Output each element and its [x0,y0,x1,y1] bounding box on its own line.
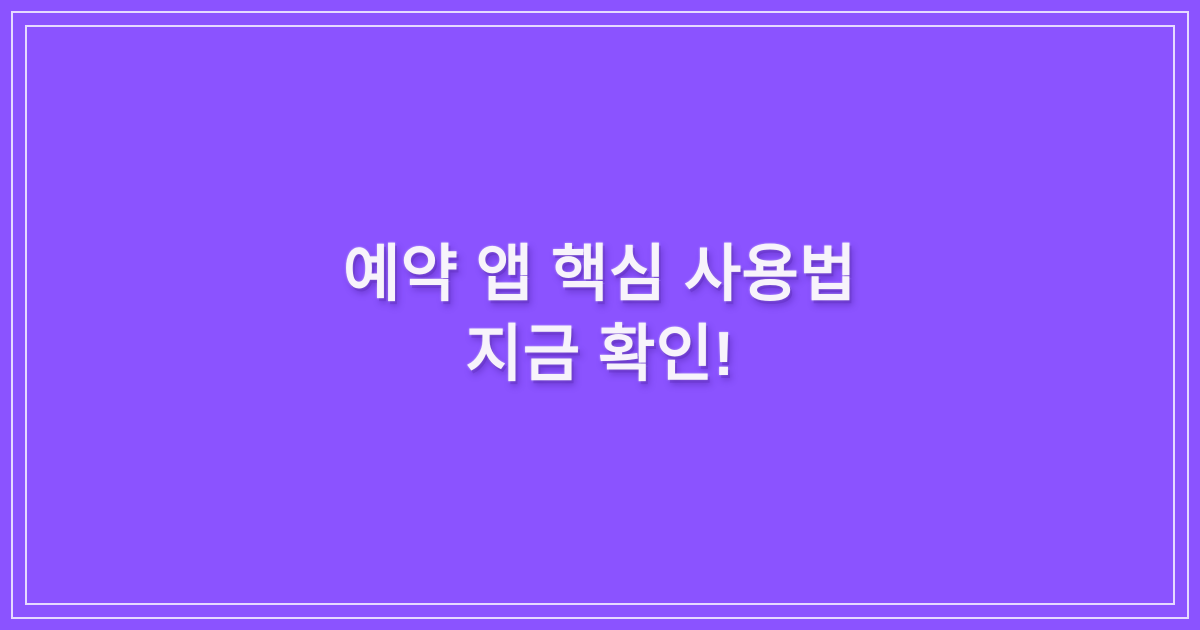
headline-line-1: 예약 앱 핵심 사용법 [343,234,857,316]
headline-block: 예약 앱 핵심 사용법 지금 확인! [0,0,1200,630]
headline-line-2: 지금 확인! [465,314,734,396]
thumbnail-card: 예약 앱 핵심 사용법 지금 확인! [0,0,1200,630]
